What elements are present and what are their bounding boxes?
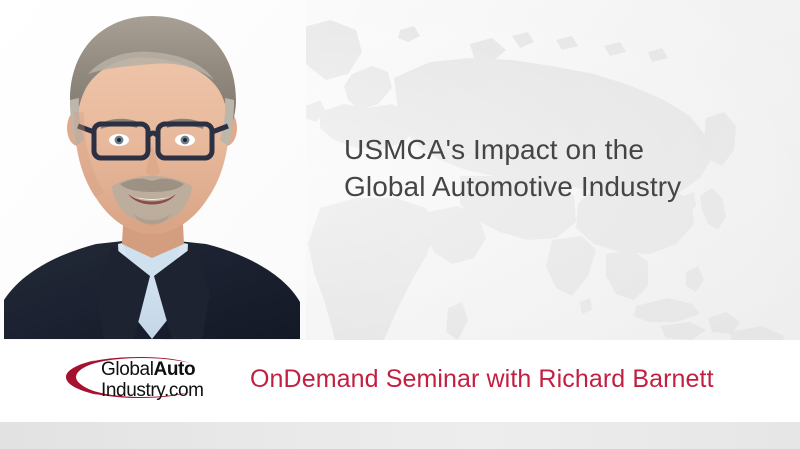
- webinar-title-slide: USMCA's Impact on the Global Automotive …: [0, 0, 800, 449]
- slide-title-line-1: USMCA's Impact on the: [344, 131, 790, 168]
- slide-title-line-2: Global Automotive Industry: [344, 168, 790, 205]
- globalautoindustry-logo[interactable]: GlobalAuto Industry.com: [56, 352, 214, 410]
- logo-global-text: Global: [101, 359, 154, 380]
- slide-title: USMCA's Impact on the Global Automotive …: [344, 131, 790, 205]
- speaker-portrait-photo: [0, 0, 306, 339]
- logo-wordmark: GlobalAuto Industry.com: [101, 360, 204, 400]
- footer-headline: OnDemand Seminar with Richard Barnett: [250, 362, 714, 396]
- logo-line-2: Industry.com: [101, 381, 204, 400]
- logo-auto-text: Auto: [154, 359, 196, 380]
- logo-line-1: GlobalAuto: [101, 360, 204, 379]
- footer-base-strip: [0, 422, 800, 449]
